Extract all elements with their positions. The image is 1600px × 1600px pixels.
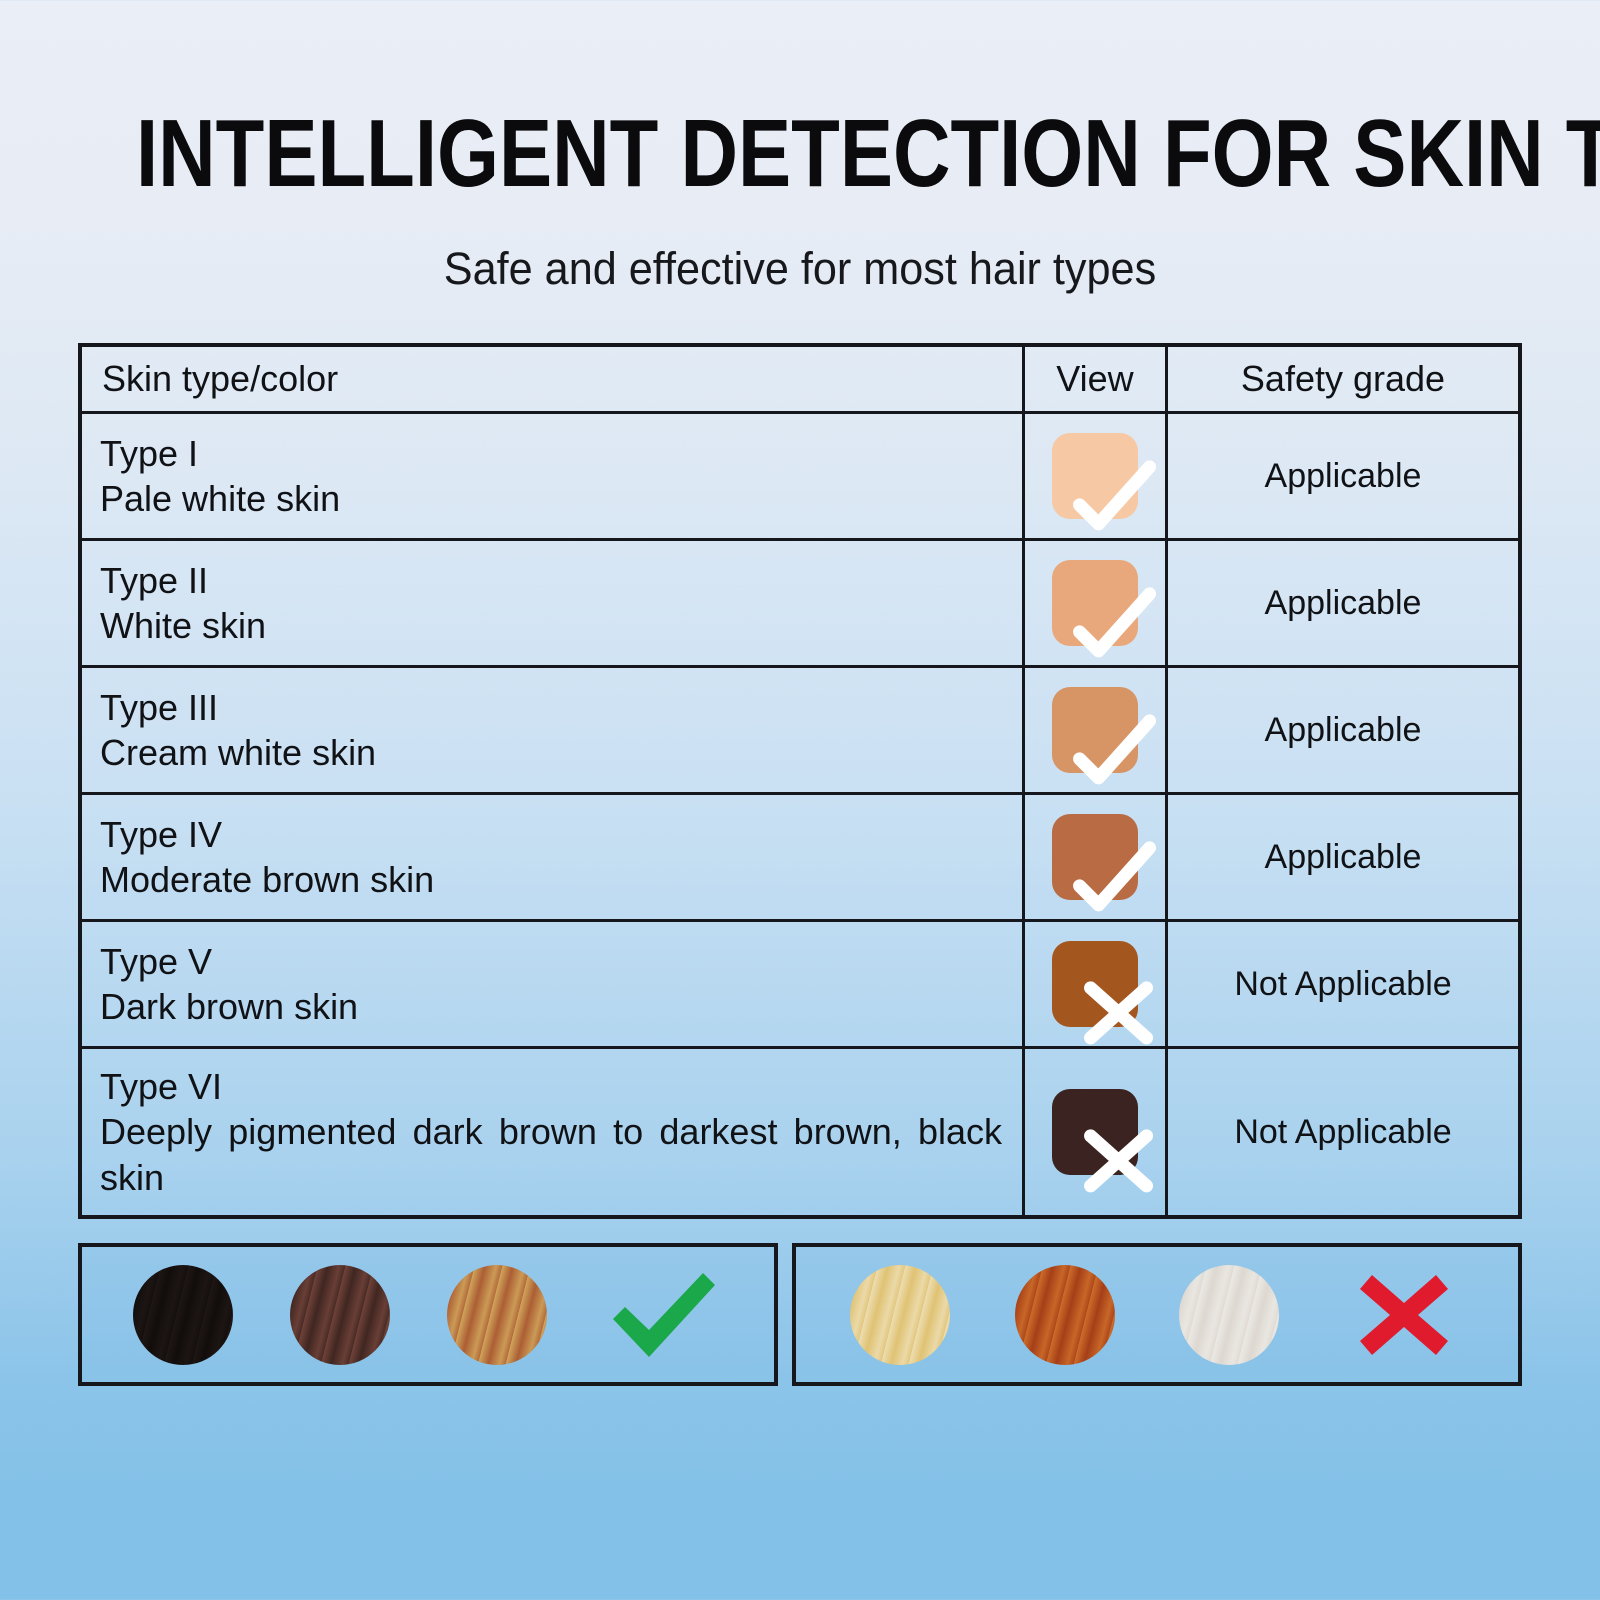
table-header-row: Skin type/color View Safety grade xyxy=(82,347,1518,411)
cell-view xyxy=(1022,541,1165,665)
cell-view xyxy=(1022,922,1165,1046)
cross-icon xyxy=(1058,955,1162,1059)
skin-type-label: Type VI xyxy=(100,1064,1002,1109)
cell-view xyxy=(1022,1049,1165,1215)
black-hair-swatch xyxy=(133,1265,233,1365)
skin-swatch xyxy=(1052,560,1138,646)
cell-skin: Type I Pale white skin xyxy=(82,431,1022,522)
applicable-hair-list xyxy=(82,1265,774,1365)
cell-view xyxy=(1022,414,1165,538)
check-icon xyxy=(1058,701,1162,805)
page-title: INTELLIGENT DETECTION FOR SKIN TONE xyxy=(136,106,1464,202)
skin-type-label: Type IV xyxy=(100,812,1002,857)
not-applicable-verdict xyxy=(1344,1265,1464,1365)
skin-type-label: Type I xyxy=(100,431,1002,476)
skin-swatch xyxy=(1052,433,1138,519)
cell-grade: Not Applicable xyxy=(1165,922,1518,1046)
table-row: Type VI Deeply pigmented dark brown to d… xyxy=(82,1046,1518,1215)
table-row: Type V Dark brown skin Not Applicable xyxy=(82,919,1518,1046)
table-row: Type II White skin Applicable xyxy=(82,538,1518,665)
safety-grade-label: Applicable xyxy=(1265,457,1422,496)
skin-type-label: Type II xyxy=(100,558,1002,603)
page-subtitle: Safe and effective for most hair types xyxy=(32,240,1568,298)
poster-root: INTELLIGENT DETECTION FOR SKIN TONE Safe… xyxy=(0,0,1600,1600)
applicable-hair-panel xyxy=(78,1243,778,1386)
skin-swatch xyxy=(1052,941,1138,1027)
cell-view xyxy=(1022,668,1165,792)
skin-desc-label: Cream white skin xyxy=(100,730,1002,776)
table-row: Type IV Moderate brown skin Applicable xyxy=(82,792,1518,919)
cell-grade: Applicable xyxy=(1165,668,1518,792)
cell-skin: Type VI Deeply pigmented dark brown to d… xyxy=(82,1064,1022,1201)
skin-type-label: Type III xyxy=(100,685,1002,730)
dark-brown-hair-swatch xyxy=(290,1265,390,1365)
header-cell-grade: Safety grade xyxy=(1165,347,1518,411)
not-applicable-hair-list xyxy=(796,1265,1518,1365)
safety-grade-label: Not Applicable xyxy=(1234,965,1451,1004)
cell-grade: Applicable xyxy=(1165,414,1518,538)
applicable-verdict xyxy=(604,1265,724,1365)
safety-grade-label: Applicable xyxy=(1265,584,1422,623)
table-row: Type III Cream white skin Applicable xyxy=(82,665,1518,792)
skin-desc-label: Dark brown skin xyxy=(100,984,1002,1030)
cell-skin: Type II White skin xyxy=(82,558,1022,649)
cell-view xyxy=(1022,795,1165,919)
skin-desc-label: White skin xyxy=(100,603,1002,649)
header-cell-view: View xyxy=(1022,347,1165,411)
cell-skin: Type IV Moderate brown skin xyxy=(82,812,1022,903)
red-hair-swatch xyxy=(1015,1265,1115,1365)
cell-skin: Type III Cream white skin xyxy=(82,685,1022,776)
skin-tone-table: Skin type/color View Safety grade Type I… xyxy=(78,343,1522,1219)
red-cross-icon xyxy=(1356,1269,1452,1361)
check-icon xyxy=(1058,828,1162,932)
header-label-skin: Skin type/color xyxy=(102,358,338,400)
green-check-icon xyxy=(605,1267,723,1363)
check-icon xyxy=(1058,574,1162,678)
blonde-hair-swatch xyxy=(850,1265,950,1365)
safety-grade-label: Not Applicable xyxy=(1234,1113,1451,1152)
skin-desc-label: Pale white skin xyxy=(100,476,1002,522)
header-label-view: View xyxy=(1056,358,1133,400)
light-brown-hair-swatch xyxy=(447,1265,547,1365)
skin-type-label: Type V xyxy=(100,939,1002,984)
safety-grade-label: Applicable xyxy=(1265,838,1422,877)
cross-icon xyxy=(1058,1103,1162,1207)
not-applicable-hair-panel xyxy=(792,1243,1522,1386)
skin-desc-label: Moderate brown skin xyxy=(100,857,1002,903)
cell-grade: Applicable xyxy=(1165,795,1518,919)
white-hair-swatch xyxy=(1179,1265,1279,1365)
table-row: Type I Pale white skin Applicable xyxy=(82,411,1518,538)
cell-grade: Not Applicable xyxy=(1165,1049,1518,1215)
skin-desc-label: Deeply pigmented dark brown to darkest b… xyxy=(100,1109,1002,1201)
cell-skin: Type V Dark brown skin xyxy=(82,939,1022,1030)
header-label-grade: Safety grade xyxy=(1241,358,1445,400)
skin-swatch xyxy=(1052,814,1138,900)
check-icon xyxy=(1058,447,1162,551)
safety-grade-label: Applicable xyxy=(1265,711,1422,750)
cell-grade: Applicable xyxy=(1165,541,1518,665)
skin-swatch xyxy=(1052,687,1138,773)
header-cell-skin: Skin type/color xyxy=(82,347,1022,411)
skin-swatch xyxy=(1052,1089,1138,1175)
